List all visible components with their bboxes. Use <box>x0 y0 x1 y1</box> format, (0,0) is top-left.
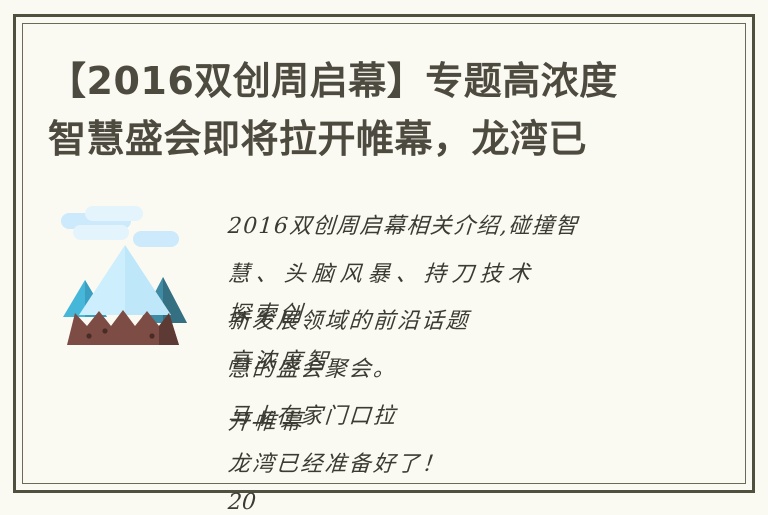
cloud-bar-4 <box>133 231 179 247</box>
body-line-1: 2016双创周启幕相关介绍,碰撞智 <box>227 208 580 240</box>
rock-dot-2 <box>102 328 107 333</box>
cloud-bar-3 <box>73 225 129 240</box>
clipped-footer-text: 20 <box>227 490 257 515</box>
rock-dot-3 <box>149 333 154 338</box>
rock-dot-1 <box>86 333 91 338</box>
mountain-placeholder-image <box>55 205 195 355</box>
body-line-3: 新发展领域的前沿话题 <box>227 303 471 335</box>
body-line-6: 龙湾已经准备好了！ <box>227 446 447 478</box>
article-card: 【2016双创周启幕】专题高浓度 智慧盛会即将拉开帷幕，龙湾已 <box>0 0 768 510</box>
body-line-4: 慧的盛会聚会。 <box>227 351 399 383</box>
cloud-bar-2 <box>85 206 143 221</box>
right-peak-shadow <box>163 277 187 323</box>
body-line-2: 慧、头脑风暴、持刀技术 <box>227 256 537 288</box>
article-title: 【2016双创周启幕】专题高浓度 智慧盛会即将拉开帷幕，龙湾已 <box>48 52 708 168</box>
mountain-icon <box>55 205 195 355</box>
body-line-5: 马上在家门口拉 <box>227 398 399 430</box>
